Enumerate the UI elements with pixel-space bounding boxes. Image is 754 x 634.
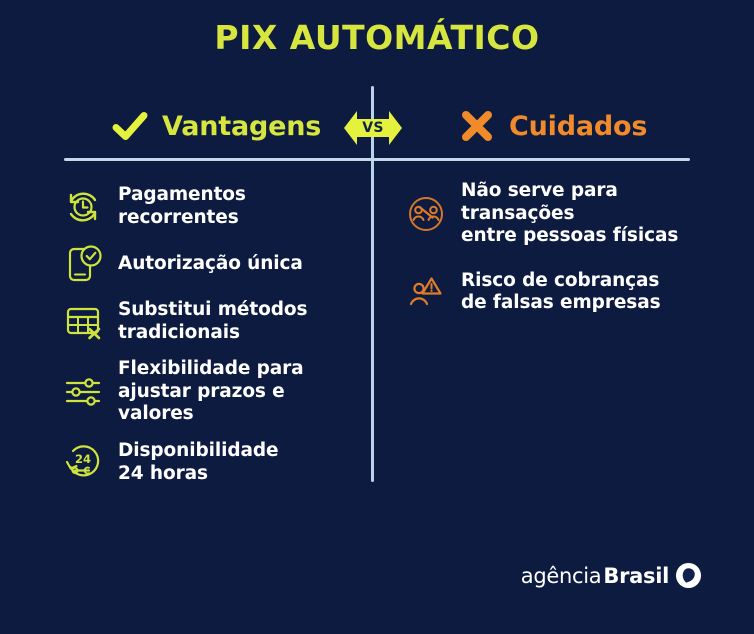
column-header-cons-label: Cuidados bbox=[509, 111, 647, 142]
list-item: Substitui métodos tradicionais bbox=[62, 299, 362, 344]
list-item-label: Autorização única bbox=[118, 253, 303, 276]
agencia-brasil-logo: agênciaBrasil bbox=[521, 562, 702, 589]
list-item-label: Flexibilidade para ajustar prazos e valo… bbox=[118, 358, 362, 426]
column-header-pros-label: Vantagens bbox=[162, 111, 321, 142]
list-item: Autorização única bbox=[62, 243, 362, 285]
list-item: Flexibilidade para ajustar prazos e valo… bbox=[62, 358, 362, 426]
list-item-label: Disponibilidade 24 horas bbox=[118, 440, 278, 485]
column-header-cons: Cuidados bbox=[459, 108, 647, 144]
no-person-to-person-icon bbox=[405, 193, 447, 235]
list-item: Risco de cobranças de falsas empresas bbox=[405, 270, 725, 315]
list-item: Pagamentos recorrentes bbox=[62, 184, 362, 229]
svg-text:24: 24 bbox=[75, 452, 91, 466]
logo-text-brasil: Brasil bbox=[603, 564, 669, 588]
pros-list: Pagamentos recorrentes Autorização única bbox=[62, 184, 362, 499]
check-mark-icon bbox=[112, 108, 148, 144]
sliders-icon bbox=[62, 371, 104, 413]
list-item-label: Não serve para transações entre pessoas … bbox=[461, 180, 725, 248]
phone-check-icon bbox=[62, 243, 104, 285]
cross-mark-icon bbox=[459, 108, 495, 144]
logo-text-agencia: agência bbox=[521, 564, 602, 588]
person-warning-icon bbox=[405, 271, 447, 313]
cons-list: Não serve para transações entre pessoas … bbox=[405, 180, 725, 337]
page-title: PIX AUTOMÁTICO bbox=[0, 18, 754, 57]
list-item-label: Risco de cobranças de falsas empresas bbox=[461, 270, 661, 315]
versus-badge: VS bbox=[343, 105, 403, 151]
twenty-four-hours-icon: 24 bbox=[62, 442, 104, 484]
column-header-pros: Vantagens bbox=[112, 108, 321, 144]
recurring-clock-icon bbox=[62, 186, 104, 228]
horizontal-divider bbox=[64, 158, 690, 161]
list-item-label: Substitui métodos tradicionais bbox=[118, 299, 307, 344]
list-item: Não serve para transações entre pessoas … bbox=[405, 180, 725, 248]
infographic-canvas: PIX AUTOMÁTICO Vantagens Cuidados VS bbox=[0, 0, 754, 634]
versus-badge-label: VS bbox=[343, 105, 403, 151]
agencia-brasil-logo-mark bbox=[671, 562, 702, 589]
list-item-label: Pagamentos recorrentes bbox=[118, 184, 362, 229]
list-item: 24 Disponibilidade 24 horas bbox=[62, 440, 362, 485]
table-x-icon bbox=[62, 301, 104, 343]
